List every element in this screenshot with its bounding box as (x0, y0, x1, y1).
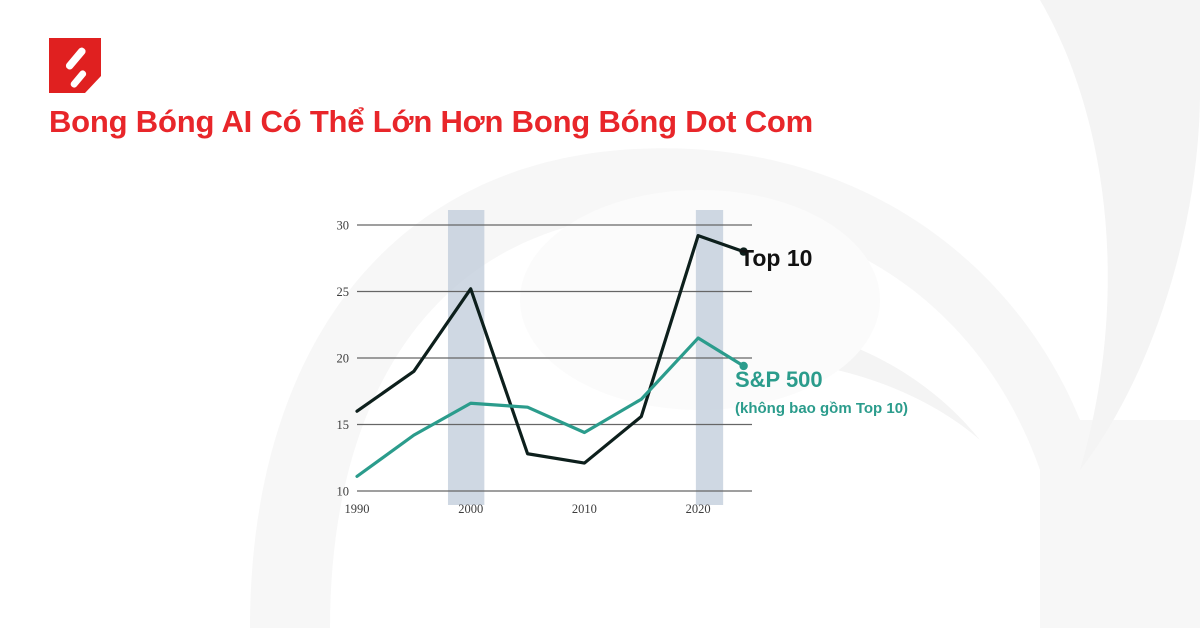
series-group (357, 236, 748, 477)
y-axis-tick-label: 30 (337, 219, 350, 233)
x-axis-tick-label: 1990 (345, 502, 370, 516)
x-axis-tick-label: 2000 (458, 502, 483, 516)
y-axis-tick-label: 15 (337, 418, 350, 432)
series-line-sp500 (357, 338, 744, 476)
y-axis-tick-label: 25 (337, 285, 350, 299)
gridlines-group (357, 225, 752, 491)
y-axis-ticks: 1015202530 (337, 219, 350, 499)
series-sublabel-sp500: (không bao gồm Top 10) (735, 400, 908, 417)
line-chart: 1015202530 1990200020102020 Top 10 S&P 5… (0, 0, 1200, 628)
y-axis-tick-label: 20 (337, 352, 350, 366)
y-axis-tick-label: 10 (337, 485, 350, 499)
series-label-top10: Top 10 (740, 245, 812, 271)
x-axis-ticks: 1990200020102020 (345, 502, 711, 516)
x-axis-tick-label: 2020 (686, 502, 711, 516)
x-axis-tick-label: 2010 (572, 502, 597, 516)
series-label-sp500: S&P 500 (735, 367, 823, 392)
